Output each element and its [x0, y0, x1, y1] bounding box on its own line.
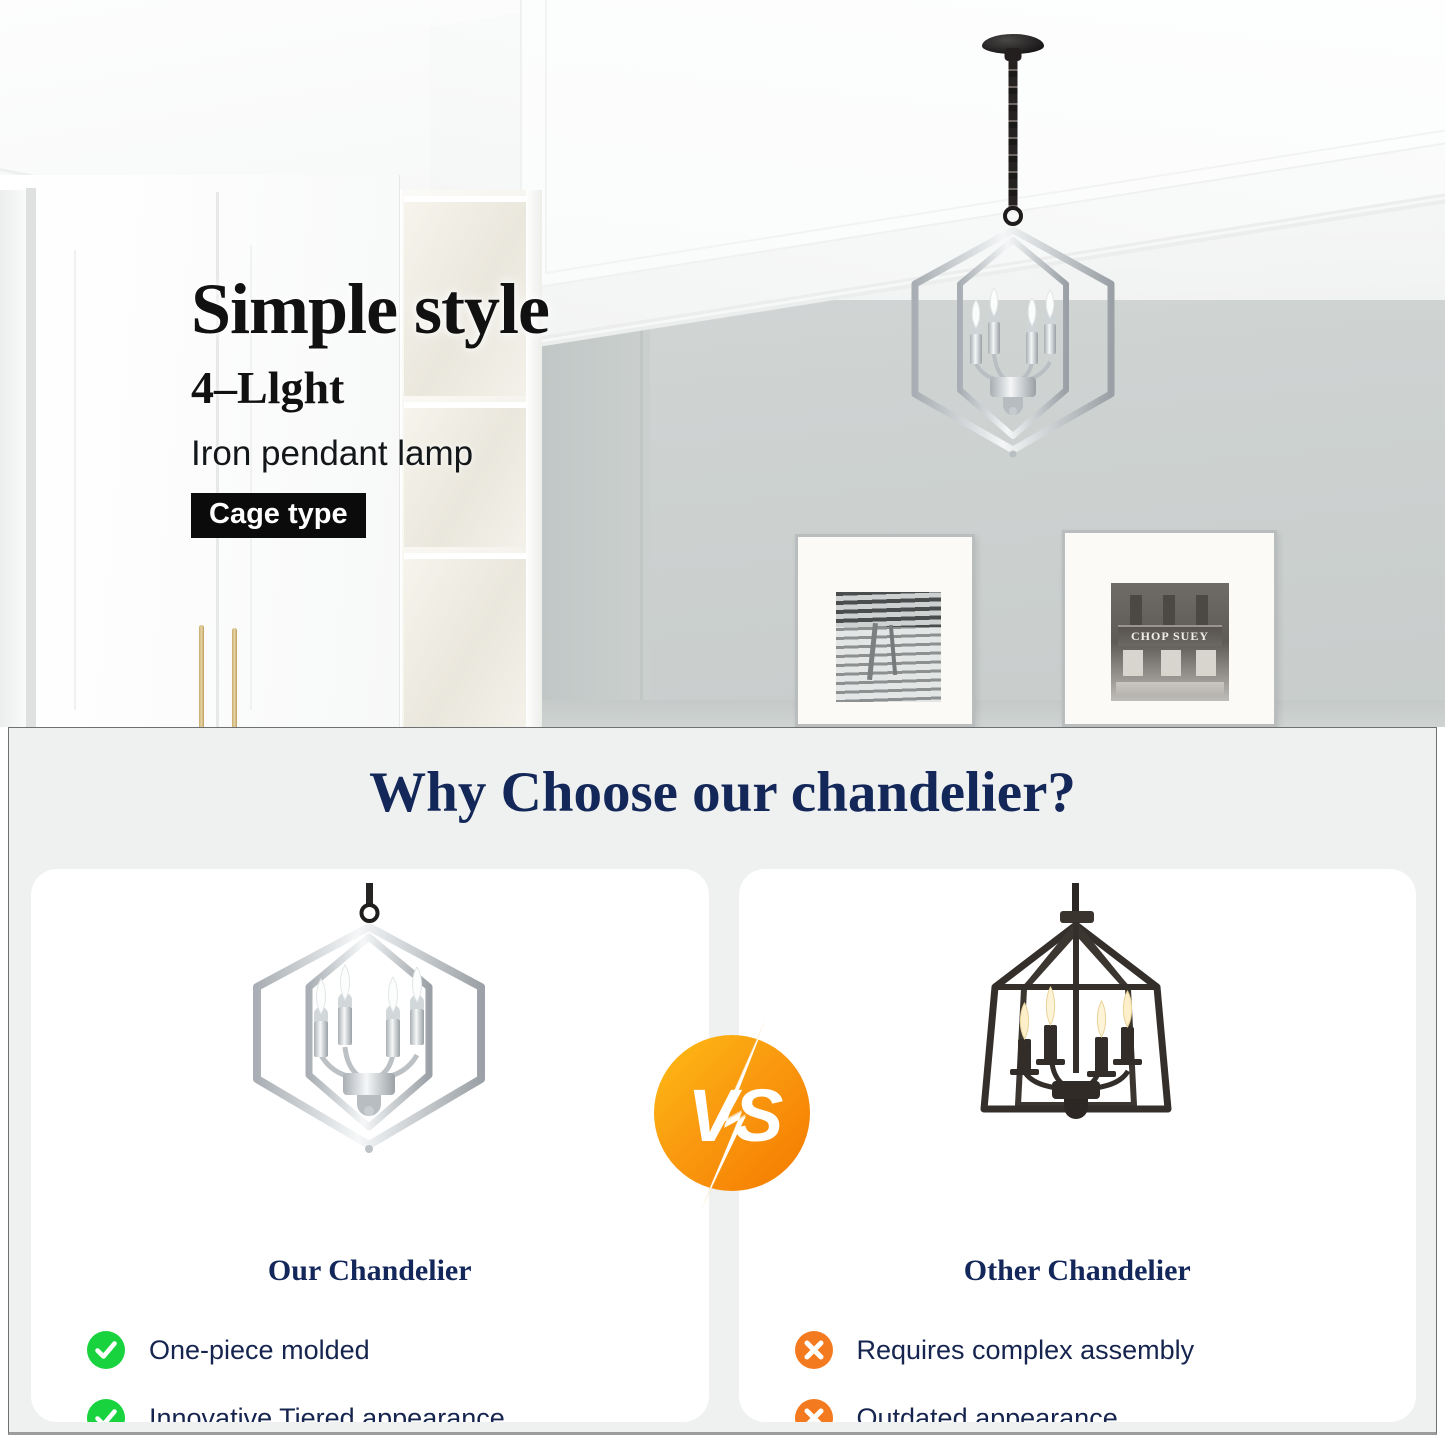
wardrobe-side-edge [0, 190, 26, 727]
list-item-label: Requires complex assembly [857, 1335, 1195, 1366]
hero-banner: CHOP SUEY [0, 0, 1445, 727]
chandelier-cage [898, 222, 1128, 462]
candle-3 [1087, 1001, 1116, 1077]
cage-hub [990, 377, 1036, 397]
chandelier-chain [1072, 883, 1079, 911]
chop-suey-window-1 [1123, 650, 1143, 676]
vs-badge: VS [650, 1018, 815, 1213]
wardrobe-handle-right [232, 628, 237, 727]
our-chandelier-label: Our Chandelier [31, 1254, 709, 1288]
cage-hub-finial [364, 1106, 374, 1116]
chop-suey-pillar-3 [1196, 595, 1208, 626]
blinds-photo-top [836, 592, 941, 627]
check-circle-icon [87, 1399, 125, 1422]
our-chandelier-bullets: One-piece molded Innovative Tiered appea… [87, 1331, 695, 1422]
chandelier-canopy [1060, 911, 1094, 923]
chop-suey-sign: CHOP SUEY [1118, 625, 1222, 645]
candle-1 [314, 979, 328, 1057]
chandelier-ring [361, 905, 377, 921]
check-circle-icon [87, 1331, 125, 1369]
shelf-box-bottom [404, 553, 526, 727]
candle-4 [1113, 991, 1142, 1065]
list-item: Innovative Tiered appearance [87, 1399, 695, 1422]
list-item: Outdated appearance [795, 1399, 1403, 1422]
lantern-hub [1052, 1081, 1100, 1099]
chop-suey-window-3 [1196, 650, 1216, 676]
wall-art-right: CHOP SUEY [1062, 530, 1277, 727]
candle-2 [338, 965, 352, 1045]
comparison-heading: Why Choose our chandelier? [9, 760, 1436, 825]
silver-cage-chandelier-icon [245, 883, 495, 1153]
wardrobe-side-shadow [26, 188, 36, 727]
chop-suey-pillar-2 [1163, 595, 1175, 626]
card-our-chandelier: Our Chandelier One-piece molded [31, 869, 709, 1422]
hero-chandelier [898, 34, 1128, 454]
candle-3 [386, 977, 400, 1057]
wall-art-right-photo: CHOP SUEY [1111, 583, 1229, 701]
vs-label: VS [688, 1074, 783, 1157]
x-circle-icon [795, 1399, 833, 1422]
hero-wall-corner [640, 255, 643, 727]
other-chandelier-image [739, 883, 1417, 1153]
chandelier-chain [1009, 60, 1018, 210]
wardrobe-handle-left [199, 625, 204, 727]
hero-wall-base [520, 700, 1445, 727]
hero-subtitle: 4–Llght [191, 365, 549, 411]
candle-2 [1036, 987, 1065, 1065]
wall-art-left [795, 534, 975, 727]
list-item-label: Innovative Tiered appearance [149, 1403, 505, 1423]
black-lantern-chandelier-icon [952, 883, 1202, 1153]
chandelier-chain [366, 883, 373, 905]
candle-1 [1010, 1003, 1039, 1075]
lantern-hub-cap [1064, 1099, 1088, 1119]
cage-candle-4 [1044, 290, 1056, 354]
cage-hub-finial [1009, 407, 1017, 415]
other-chandelier-label: Other Chandelier [739, 1254, 1417, 1288]
cage-candle-1 [970, 300, 982, 364]
other-chandelier-bullets: Requires complex assembly Outdated appea… [795, 1331, 1403, 1422]
hero-description: Iron pendant lamp [191, 436, 549, 471]
wall-art-left-photo [836, 592, 941, 702]
list-item-label: Outdated appearance [857, 1403, 1118, 1423]
card-other-chandelier: Other Chandelier Requires complex assemb… [739, 869, 1417, 1422]
list-item-label: One-piece molded [149, 1335, 370, 1366]
cage-bottom-finial [365, 1145, 373, 1153]
chop-suey-pillar-1 [1130, 595, 1142, 626]
chop-suey-window-2 [1161, 650, 1181, 676]
chop-suey-sign-text: CHOP SUEY [1118, 627, 1222, 645]
cage-candle-3 [1026, 298, 1038, 364]
cage-bottom-finial [1010, 451, 1017, 458]
chop-suey-awning [1116, 682, 1225, 696]
list-item: One-piece molded [87, 1331, 695, 1369]
hero-title: Simple style [191, 273, 549, 345]
hero-badge: Cage type [191, 493, 366, 538]
x-circle-icon [795, 1331, 833, 1369]
hero-text-block: Simple style 4–Llght Iron pendant lamp C… [191, 273, 549, 538]
list-item: Requires complex assembly [795, 1331, 1403, 1369]
our-chandelier-image [31, 883, 709, 1153]
wardrobe-panel-line-left [74, 250, 76, 710]
cage-hub [343, 1073, 395, 1095]
cage-candle-2 [988, 288, 1000, 354]
